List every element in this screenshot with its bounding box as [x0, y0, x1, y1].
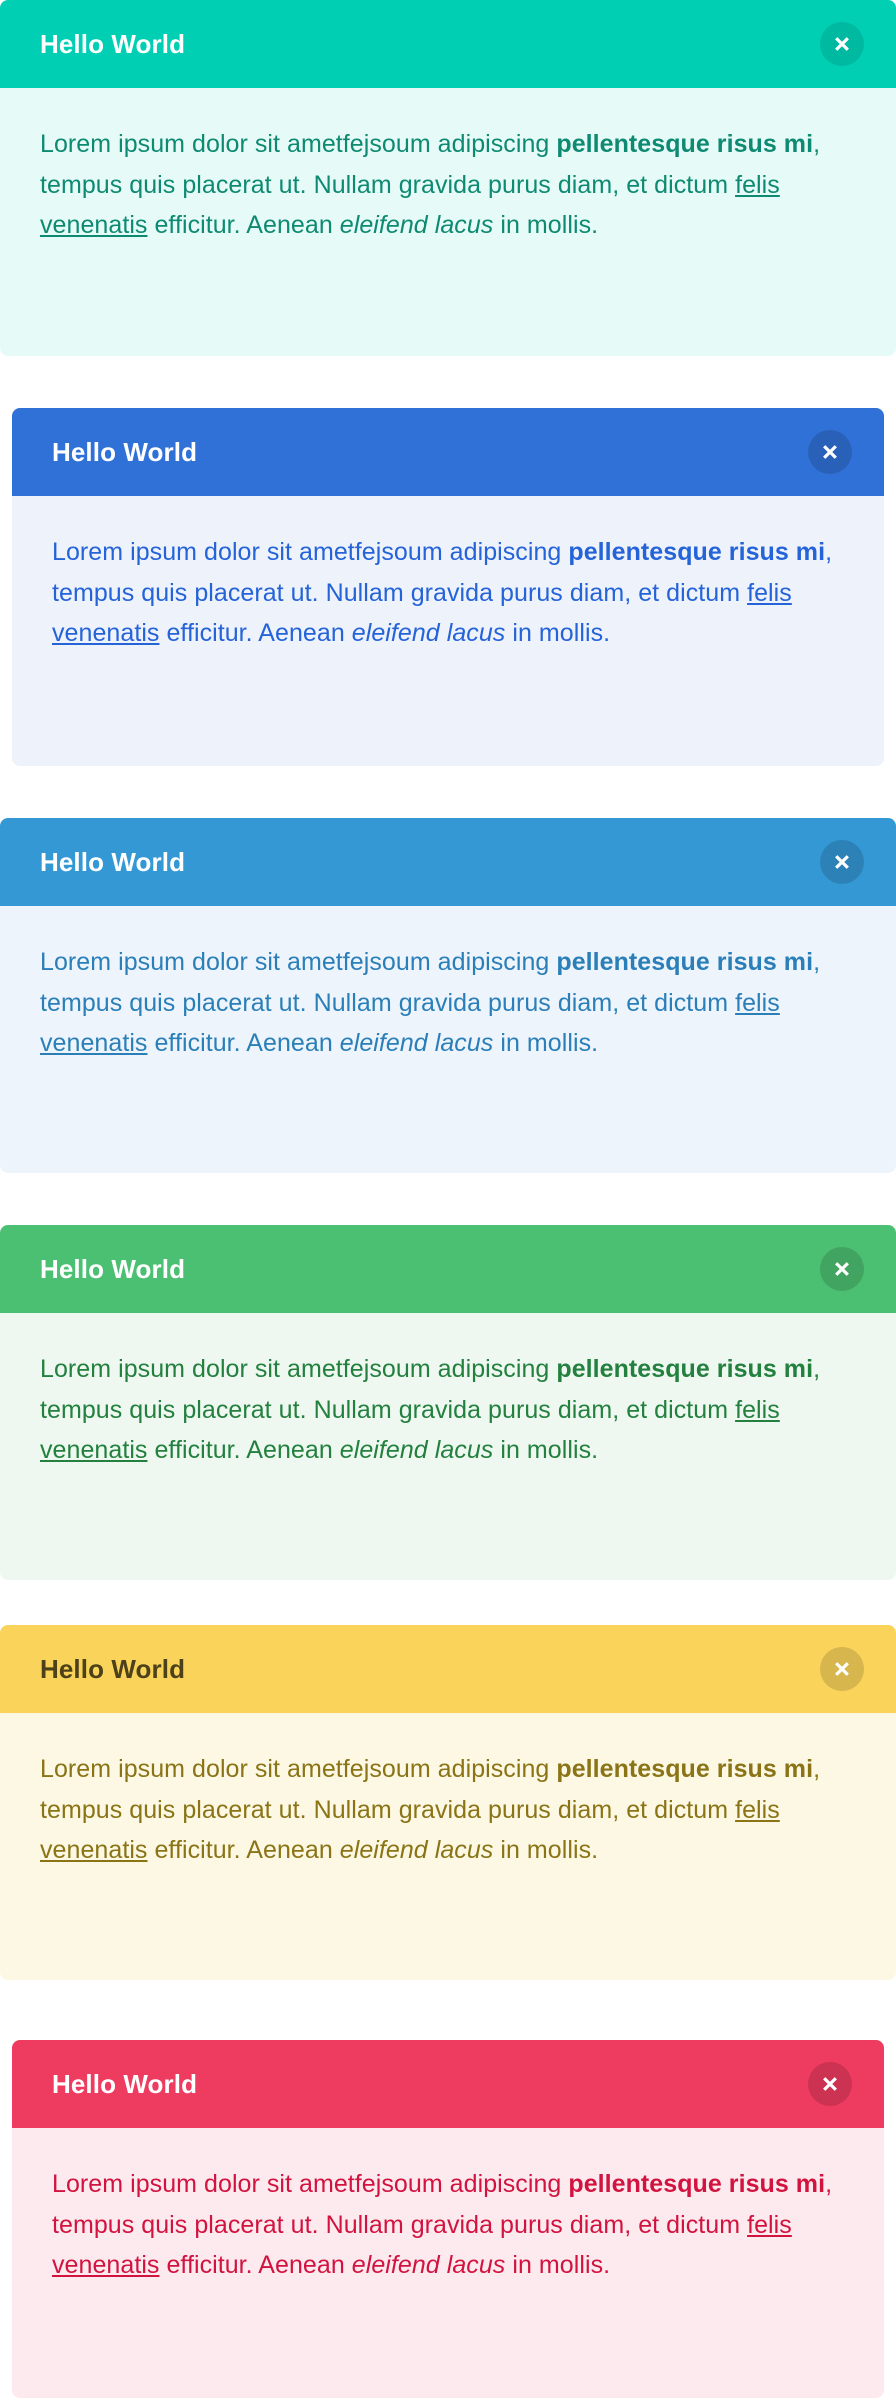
close-button[interactable]: [808, 2062, 852, 2106]
alert-title: Hello World: [40, 31, 185, 57]
alert-card-lightblue: Hello WorldLorem ipsum dolor sit ametfej…: [0, 818, 896, 1173]
alert-message-italic: eleifend lacus: [340, 1836, 494, 1864]
alert-card-blue: Hello WorldLorem ipsum dolor sit ametfej…: [12, 408, 884, 766]
alert-body: Lorem ipsum dolor sit ametfejsoum adipis…: [12, 496, 884, 766]
alert-message-bold: pellentesque risus mi: [556, 1755, 813, 1783]
alert-header: Hello World: [12, 408, 884, 496]
alert-card-yellow: Hello WorldLorem ipsum dolor sit ametfej…: [0, 1625, 896, 1980]
alert-header: Hello World: [0, 1625, 896, 1713]
alert-message-bold: pellentesque risus mi: [568, 2170, 825, 2198]
close-icon: [833, 35, 851, 53]
alert-message-bold: pellentesque risus mi: [556, 130, 813, 158]
close-button[interactable]: [820, 22, 864, 66]
alert-title: Hello World: [52, 439, 197, 465]
alert-card-crimson: Hello WorldLorem ipsum dolor sit ametfej…: [12, 2040, 884, 2398]
alert-message-italic: eleifend lacus: [340, 1029, 494, 1057]
alert-gap: [0, 356, 896, 408]
alert-message-italic: eleifend lacus: [340, 211, 494, 239]
alert-gap: [0, 766, 896, 818]
alert-stack: Hello WorldLorem ipsum dolor sit ametfej…: [0, 0, 896, 2398]
alert-gap: [0, 1980, 896, 2040]
alert-title: Hello World: [52, 2071, 197, 2097]
close-icon: [833, 1260, 851, 1278]
alert-header: Hello World: [0, 818, 896, 906]
alert-card-green: Hello WorldLorem ipsum dolor sit ametfej…: [0, 1225, 896, 1580]
alert-message-italic: eleifend lacus: [340, 1436, 494, 1464]
close-button[interactable]: [820, 1647, 864, 1691]
alert-message: Lorem ipsum dolor sit ametfejsoum adipis…: [40, 942, 856, 1064]
alert-body: Lorem ipsum dolor sit ametfejsoum adipis…: [12, 2128, 884, 2398]
alert-message: Lorem ipsum dolor sit ametfejsoum adipis…: [52, 532, 844, 654]
alert-message: Lorem ipsum dolor sit ametfejsoum adipis…: [40, 1749, 856, 1871]
alert-message: Lorem ipsum dolor sit ametfejsoum adipis…: [52, 2164, 844, 2286]
alert-message-italic: eleifend lacus: [352, 2251, 506, 2279]
alert-header: Hello World: [0, 1225, 896, 1313]
alert-header: Hello World: [0, 0, 896, 88]
close-button[interactable]: [808, 430, 852, 474]
close-icon: [821, 2075, 839, 2093]
close-button[interactable]: [820, 1247, 864, 1291]
alert-message-bold: pellentesque risus mi: [568, 538, 825, 566]
alert-message: Lorem ipsum dolor sit ametfejsoum adipis…: [40, 124, 856, 246]
alert-message-bold: pellentesque risus mi: [556, 948, 813, 976]
alert-message: Lorem ipsum dolor sit ametfejsoum adipis…: [40, 1349, 856, 1471]
alert-title: Hello World: [40, 1656, 185, 1682]
alert-gap: [0, 1173, 896, 1225]
close-icon: [833, 1660, 851, 1678]
alert-title: Hello World: [40, 1256, 185, 1282]
alert-gap: [0, 1580, 896, 1625]
alert-header: Hello World: [12, 2040, 884, 2128]
alert-body: Lorem ipsum dolor sit ametfejsoum adipis…: [0, 88, 896, 356]
close-button[interactable]: [820, 840, 864, 884]
alert-card-teal: Hello WorldLorem ipsum dolor sit ametfej…: [0, 0, 896, 356]
alert-message-italic: eleifend lacus: [352, 619, 506, 647]
alert-title: Hello World: [40, 849, 185, 875]
close-icon: [821, 443, 839, 461]
alert-body: Lorem ipsum dolor sit ametfejsoum adipis…: [0, 906, 896, 1173]
close-icon: [833, 853, 851, 871]
alert-message-bold: pellentesque risus mi: [556, 1355, 813, 1383]
alert-body: Lorem ipsum dolor sit ametfejsoum adipis…: [0, 1713, 896, 1980]
alert-body: Lorem ipsum dolor sit ametfejsoum adipis…: [0, 1313, 896, 1580]
